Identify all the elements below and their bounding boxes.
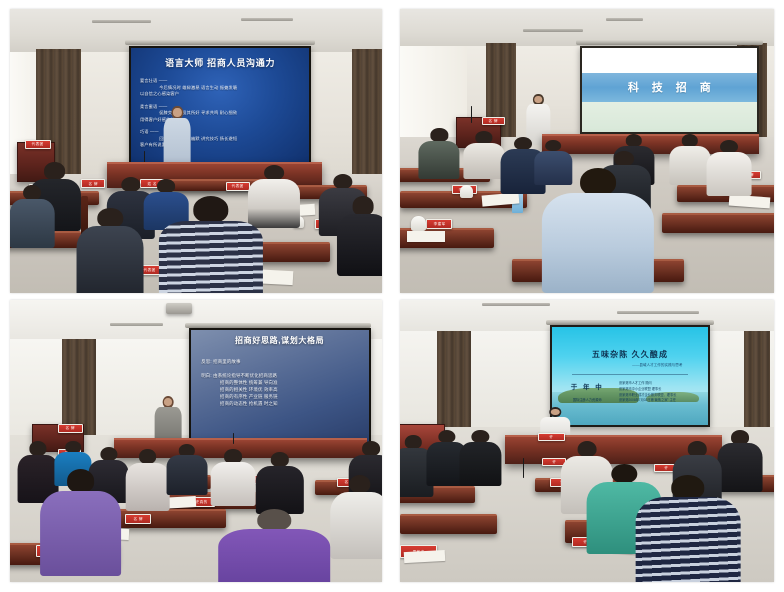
attendee-head xyxy=(349,475,370,494)
nameplate-text: 李建军 xyxy=(433,222,445,226)
credit-line: 张家港2008年7月02日第"聚焦之家" 主任 xyxy=(619,398,699,404)
photo-cell-bottom-left[interactable]: 招商好思路,谋划大格局 反思: 招商里的故事 明白: 由系统论指导不断优化招商思… xyxy=(0,296,392,592)
screen-roller xyxy=(125,40,315,45)
slide-band-top xyxy=(582,48,758,73)
attendee-foreground xyxy=(218,509,330,582)
ceiling-vent-icon xyxy=(617,311,699,314)
curtain xyxy=(744,331,770,427)
attendee-torso xyxy=(211,462,256,505)
ceiling-vent-icon xyxy=(110,323,162,326)
nameplate-text: 名 牌 xyxy=(66,426,75,430)
attendee-torso xyxy=(256,466,304,514)
slide-subtitle: ——县域人才工作的实践与思考 xyxy=(561,363,699,368)
slide-line: 招商的动态性 抢机遇 时之知 xyxy=(201,401,358,408)
desk xyxy=(400,514,497,534)
nameplate-text: 许 xyxy=(552,460,556,464)
photo-bottom-left[interactable]: 招商好思路,谋划大格局 反思: 招商里的故事 明白: 由系统论指导不断优化招商思… xyxy=(10,300,382,582)
photo-collage: 语言大师 招商人员沟通力 要言壮语 —— 今后情况时 雄辩激昂 语言生动 振聋发… xyxy=(0,0,784,592)
nameplate-text: 代表团 xyxy=(144,268,156,272)
attendee xyxy=(125,449,170,511)
slide-line: 招商的相关性 环境优 效率高 xyxy=(201,387,358,394)
presenter-role: 国际注册人力资源师 xyxy=(561,397,613,402)
ceiling-vent-icon xyxy=(482,303,549,306)
slide-content: 语言大师 招商人员沟通力 要言壮语 —— 今后情况时 雄辩激昂 语言生动 振聋发… xyxy=(131,48,309,166)
nameplate: 名 牌 xyxy=(125,514,151,524)
credits-list: 张家港市人才工作 顾问 张家港市中小企业联盟 理事长 张家港市职业成才企业服务联… xyxy=(619,381,699,403)
nameplate-text: 代表团 xyxy=(32,142,44,146)
ceiling-vent-icon xyxy=(241,18,293,21)
screen-roller xyxy=(576,40,763,45)
attendee-foreground xyxy=(159,196,263,293)
slide-band-bottom xyxy=(582,102,758,132)
attendee xyxy=(330,475,382,560)
attendee xyxy=(166,444,207,495)
projector-screen[interactable]: 招商好思路,谋划大格局 反思: 招商里的故事 明白: 由系统论指导不断优化招商思… xyxy=(189,328,371,444)
cup xyxy=(460,185,473,198)
attendee-head xyxy=(193,196,228,223)
attendee-head xyxy=(121,177,140,193)
attendee xyxy=(211,449,256,505)
photo-cell-top-right[interactable]: 科 技 招 商 名 牌 名 牌 李建军 李建军 名 牌 xyxy=(392,0,784,296)
nameplate-text: 许 xyxy=(549,435,553,439)
attendee-head xyxy=(100,447,117,462)
nameplate: 代表团 xyxy=(25,140,51,149)
attendee-torso xyxy=(166,455,207,494)
screen-roller xyxy=(546,320,714,325)
attendee-torso xyxy=(337,214,382,276)
curtain xyxy=(352,49,382,174)
attendee-torso xyxy=(636,497,741,582)
attendee xyxy=(707,140,752,197)
attendee-head xyxy=(671,475,705,500)
presenter-face xyxy=(164,398,172,406)
attendee-head xyxy=(44,162,66,180)
slide-line: 反思: 招商里的故事 xyxy=(201,359,358,366)
document-paper xyxy=(403,550,445,563)
slide-title: 科 技 招 商 xyxy=(623,79,716,95)
attendee-head xyxy=(353,196,374,215)
nameplate-text: 名 牌 xyxy=(134,518,143,522)
slide-line: 招商的有序性 产业链 服务链 xyxy=(201,394,358,401)
attendee-torso xyxy=(460,442,501,486)
slide-columns: 于 年 中 国际注册人力资源师 张家港市人才工作 顾问 张家港市中小企业联盟 理… xyxy=(561,381,699,403)
microphone-stand xyxy=(471,106,472,123)
attendee-head xyxy=(23,185,41,200)
photo-top-right[interactable]: 科 技 招 商 名 牌 名 牌 李建军 李建军 名 牌 xyxy=(400,9,774,293)
attendee-head xyxy=(333,174,352,190)
slide-title: 语言大师 招商人员沟通力 xyxy=(140,59,300,69)
nameplate: 名 牌 xyxy=(81,179,105,188)
slide-title: 五味杂陈 久久酿成 xyxy=(561,349,699,360)
ceiling-vent-icon xyxy=(606,18,643,21)
attendee-torso xyxy=(419,141,460,180)
nameplate: 李建军 xyxy=(426,219,452,229)
attendee-head xyxy=(271,452,289,467)
nameplate-text: 名 牌 xyxy=(489,119,498,123)
attendee-torso xyxy=(218,529,330,582)
attendee-torso xyxy=(159,221,263,293)
slide-body: 反思: 招商里的故事 明白: 由系统论指导不断优化招商思路 招商的整体性 统筹兼… xyxy=(201,359,358,408)
document-paper xyxy=(407,231,444,242)
projector-screen[interactable]: 语言大师 招商人员沟通力 要言壮语 —— 今后情况时 雄辩激昂 语言生动 振聋发… xyxy=(129,46,311,168)
attendee-torso xyxy=(542,193,654,293)
attendee-torso xyxy=(330,492,382,560)
attendee-head xyxy=(612,464,637,484)
cup xyxy=(411,216,426,230)
attendee-head xyxy=(264,165,284,180)
ceiling-vent-icon xyxy=(92,20,152,23)
attendee-torso xyxy=(464,143,505,180)
attendee-torso xyxy=(77,226,144,293)
screen-roller xyxy=(185,323,371,328)
curtain xyxy=(437,331,471,430)
photo-bottom-right[interactable]: 五味杂陈 久久酿成 ——县域人才工作的实践与思考 于 年 中 国际注册人力资源师… xyxy=(400,300,774,582)
nameplate-text: 许 xyxy=(664,466,668,470)
nameplate: 名 牌 xyxy=(58,424,82,432)
attendee-head xyxy=(29,441,46,456)
photo-cell-bottom-right[interactable]: 五味杂陈 久久酿成 ——县域人才工作的实践与思考 于 年 中 国际注册人力资源师… xyxy=(392,296,784,592)
nameplate-text: 名 牌 xyxy=(88,182,97,186)
presenter-face xyxy=(173,108,181,117)
attendee xyxy=(419,128,460,179)
slide-divider xyxy=(572,374,688,375)
presenter-name: 于 年 中 xyxy=(561,381,613,391)
attendee-foreground xyxy=(636,475,741,582)
attendee-torso xyxy=(707,152,752,196)
attendee-torso xyxy=(10,199,55,248)
attendee xyxy=(10,185,55,247)
attendee-head xyxy=(257,509,290,531)
slide-title: 招商好思路,谋划大格局 xyxy=(201,337,358,346)
slide-content: 五味杂陈 久久酿成 ——县域人才工作的实践与思考 于 年 中 国际注册人力资源师… xyxy=(552,327,709,425)
attendee xyxy=(460,430,501,486)
nameplate-text: 代表团 xyxy=(232,185,244,189)
attendee xyxy=(337,196,382,276)
attendee-head xyxy=(224,449,242,463)
nameplate: 许 xyxy=(538,433,564,441)
projector-screen[interactable]: 五味杂陈 久久酿成 ——县域人才工作的实践与思考 于 年 中 国际注册人力资源师… xyxy=(550,325,711,427)
nameplate: 代表团 xyxy=(226,182,250,191)
attendee-torso xyxy=(40,491,122,577)
attendee xyxy=(77,208,144,293)
attendee-head xyxy=(731,430,749,445)
photo-cell-top-left[interactable]: 语言大师 招商人员沟通力 要言壮语 —— 今后情况时 雄辩激昂 语言生动 振聋发… xyxy=(0,0,392,296)
nameplate: 名 牌 xyxy=(482,117,504,126)
attendee-head xyxy=(580,168,616,195)
attendee-foreground xyxy=(40,469,122,576)
attendee-torso xyxy=(669,146,710,185)
attendee-head xyxy=(139,449,157,464)
attendee-head xyxy=(67,469,95,493)
slide-band-middle: 科 技 招 商 xyxy=(582,73,758,102)
nameplate-text: 史真的 xyxy=(196,500,208,504)
attendee xyxy=(256,452,304,514)
projector-icon xyxy=(166,303,192,314)
attendee xyxy=(669,134,710,185)
presenter-block: 于 年 中 国际注册人力资源师 xyxy=(561,381,613,403)
projector-screen[interactable]: 科 技 招 商 xyxy=(580,46,760,134)
attendee-head xyxy=(362,441,380,456)
desk xyxy=(662,213,774,233)
attendee xyxy=(464,131,505,179)
attendee-head xyxy=(98,208,123,228)
attendee-foreground xyxy=(542,168,654,293)
slide-content: 招商好思路,谋划大格局 反思: 招商里的故事 明白: 由系统论指导不断优化招商思… xyxy=(191,330,369,442)
photo-top-left[interactable]: 语言大师 招商人员沟通力 要言壮语 —— 今后情况时 雄辩激昂 语言生动 振聋发… xyxy=(10,9,382,293)
ceiling-vent-icon xyxy=(523,29,583,32)
attendee-head xyxy=(614,151,634,166)
attendee-torso xyxy=(125,463,170,511)
